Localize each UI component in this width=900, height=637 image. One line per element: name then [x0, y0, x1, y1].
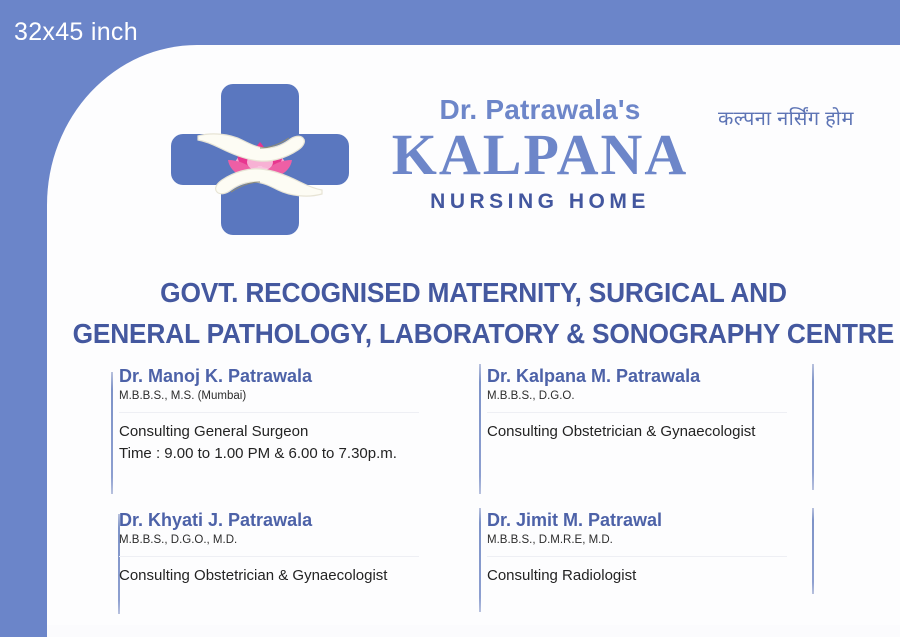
medical-cross-hands-lotus-icon	[170, 78, 350, 243]
doctor-role: Consulting Obstetrician & Gynaecologist	[487, 421, 857, 442]
brand-block: Dr. Patrawala's KALPANA NURSING HOME	[355, 92, 725, 218]
signboard-canvas: 32x45 inch Dr. Patrawala's KALPA	[0, 0, 900, 637]
doctor-name: Dr. Manoj K. Patrawala	[119, 366, 489, 387]
brand-subtitle: NURSING HOME	[355, 186, 725, 218]
doctor-name: Dr. Khyati J. Patrawala	[119, 510, 489, 531]
divider-row1-left	[111, 372, 113, 494]
doctor-card-rule	[487, 412, 787, 413]
doctor-qualifications: M.B.B.S., D.M.R.E, M.D.	[487, 532, 857, 549]
doctor-timing: Time : 9.00 to 1.00 PM & 6.00 to 7.30p.m…	[119, 443, 489, 464]
doctor-qualifications: M.B.B.S., M.S. (Mumbai)	[119, 388, 489, 405]
doctor-card: Dr. Manoj K. Patrawala M.B.B.S., M.S. (M…	[119, 366, 489, 464]
brand-name: KALPANA	[355, 125, 725, 184]
doctor-name: Dr. Kalpana M. Patrawala	[487, 366, 857, 387]
doctor-qualifications: M.B.B.S., D.G.O., M.D.	[119, 532, 489, 549]
headline-line-1: GOVT. RECOGNISED MATERNITY, SURGICAL AND	[73, 272, 875, 313]
doctor-card-rule	[119, 556, 419, 557]
doctor-card: Dr. Kalpana M. Patrawala M.B.B.S., D.G.O…	[487, 366, 857, 443]
headline-line-2: GENERAL PATHOLOGY, LABORATORY & SONOGRAP…	[73, 313, 875, 354]
doctor-card: Dr. Khyati J. Patrawala M.B.B.S., D.G.O.…	[119, 510, 489, 587]
doctor-role: Consulting Obstetrician & Gynaecologist	[119, 565, 489, 586]
doctor-card-rule	[487, 556, 787, 557]
doctor-role: Consulting General Surgeon	[119, 421, 489, 442]
panel-bottom-strip	[47, 625, 900, 637]
services-headline: GOVT. RECOGNISED MATERNITY, SURGICAL AND…	[47, 272, 900, 354]
doctor-name: Dr. Jimit M. Patrawal	[487, 510, 857, 531]
doctor-role: Consulting Radiologist	[487, 565, 857, 586]
clinic-logo	[170, 78, 350, 243]
doctor-card-rule	[119, 412, 419, 413]
doctors-grid: Dr. Manoj K. Patrawala M.B.B.S., M.S. (M…	[47, 362, 900, 620]
brand-name-hindi: कल्पना नर्सिंग होम	[718, 104, 854, 131]
doctor-card: Dr. Jimit M. Patrawal M.B.B.S., D.M.R.E,…	[487, 510, 857, 587]
size-label: 32x45 inch	[14, 20, 138, 45]
doctor-qualifications: M.B.B.S., D.G.O.	[487, 388, 857, 405]
